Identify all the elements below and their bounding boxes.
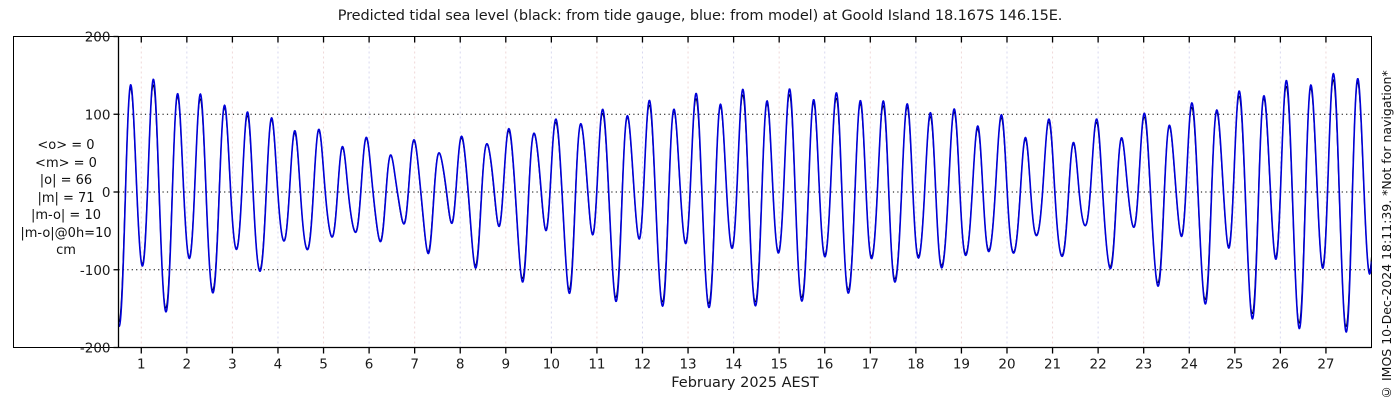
axes: 2001000-100-2001234567891011121314151617…: [80, 30, 1372, 373]
x-tick-label: 24: [1181, 357, 1198, 373]
x-tick-label: 17: [862, 357, 879, 373]
x-tick-label: 19: [953, 357, 970, 373]
x-tick-label: 7: [410, 357, 419, 373]
x-tick-label: 25: [1226, 357, 1243, 373]
x-tick-label: 27: [1317, 357, 1334, 373]
x-tick-label: 18: [907, 357, 924, 373]
x-tick-label: 21: [1044, 357, 1061, 373]
x-tick-label: 15: [771, 357, 788, 373]
x-axis-label: February 2025 AEST: [118, 375, 1372, 391]
plot-area: 2001000-100-2001234567891011121314151617…: [0, 0, 1400, 400]
data-line-from-model: [119, 74, 1372, 332]
x-tick-label: 8: [456, 357, 465, 373]
x-tick-label: 3: [228, 357, 237, 373]
x-tick-label: 13: [679, 357, 696, 373]
x-tick-label: 11: [588, 357, 605, 373]
x-tick-label: 14: [725, 357, 742, 373]
x-tick-label: 10: [543, 357, 560, 373]
x-tick-label: 2: [183, 357, 192, 373]
y-tick-label: -100: [80, 263, 111, 279]
x-tick-label: 20: [998, 357, 1015, 373]
x-tick-label: 26: [1272, 357, 1289, 373]
x-tick-label: 5: [319, 357, 328, 373]
y-tick-label: -200: [80, 341, 111, 357]
x-tick-label: 16: [816, 357, 833, 373]
x-tick-label: 9: [501, 357, 510, 373]
y-tick-label: 100: [85, 107, 111, 123]
x-tick-label: 23: [1135, 357, 1152, 373]
data-traces: [119, 74, 1372, 332]
x-tick-label: 4: [274, 357, 283, 373]
x-tick-label: 12: [634, 357, 651, 373]
x-tick-label: 1: [137, 357, 146, 373]
copyright-notice: © IMOS 10-Dec-2024 18:11:39. *Not for na…: [1379, 0, 1399, 400]
gridlines: [119, 37, 1372, 348]
x-tick-label: 22: [1090, 357, 1107, 373]
y-tick-label: 200: [85, 30, 111, 46]
tidal-chart-page: Predicted tidal sea level (black: from t…: [0, 0, 1400, 400]
x-tick-label: 6: [365, 357, 374, 373]
y-tick-label: 0: [102, 185, 111, 201]
